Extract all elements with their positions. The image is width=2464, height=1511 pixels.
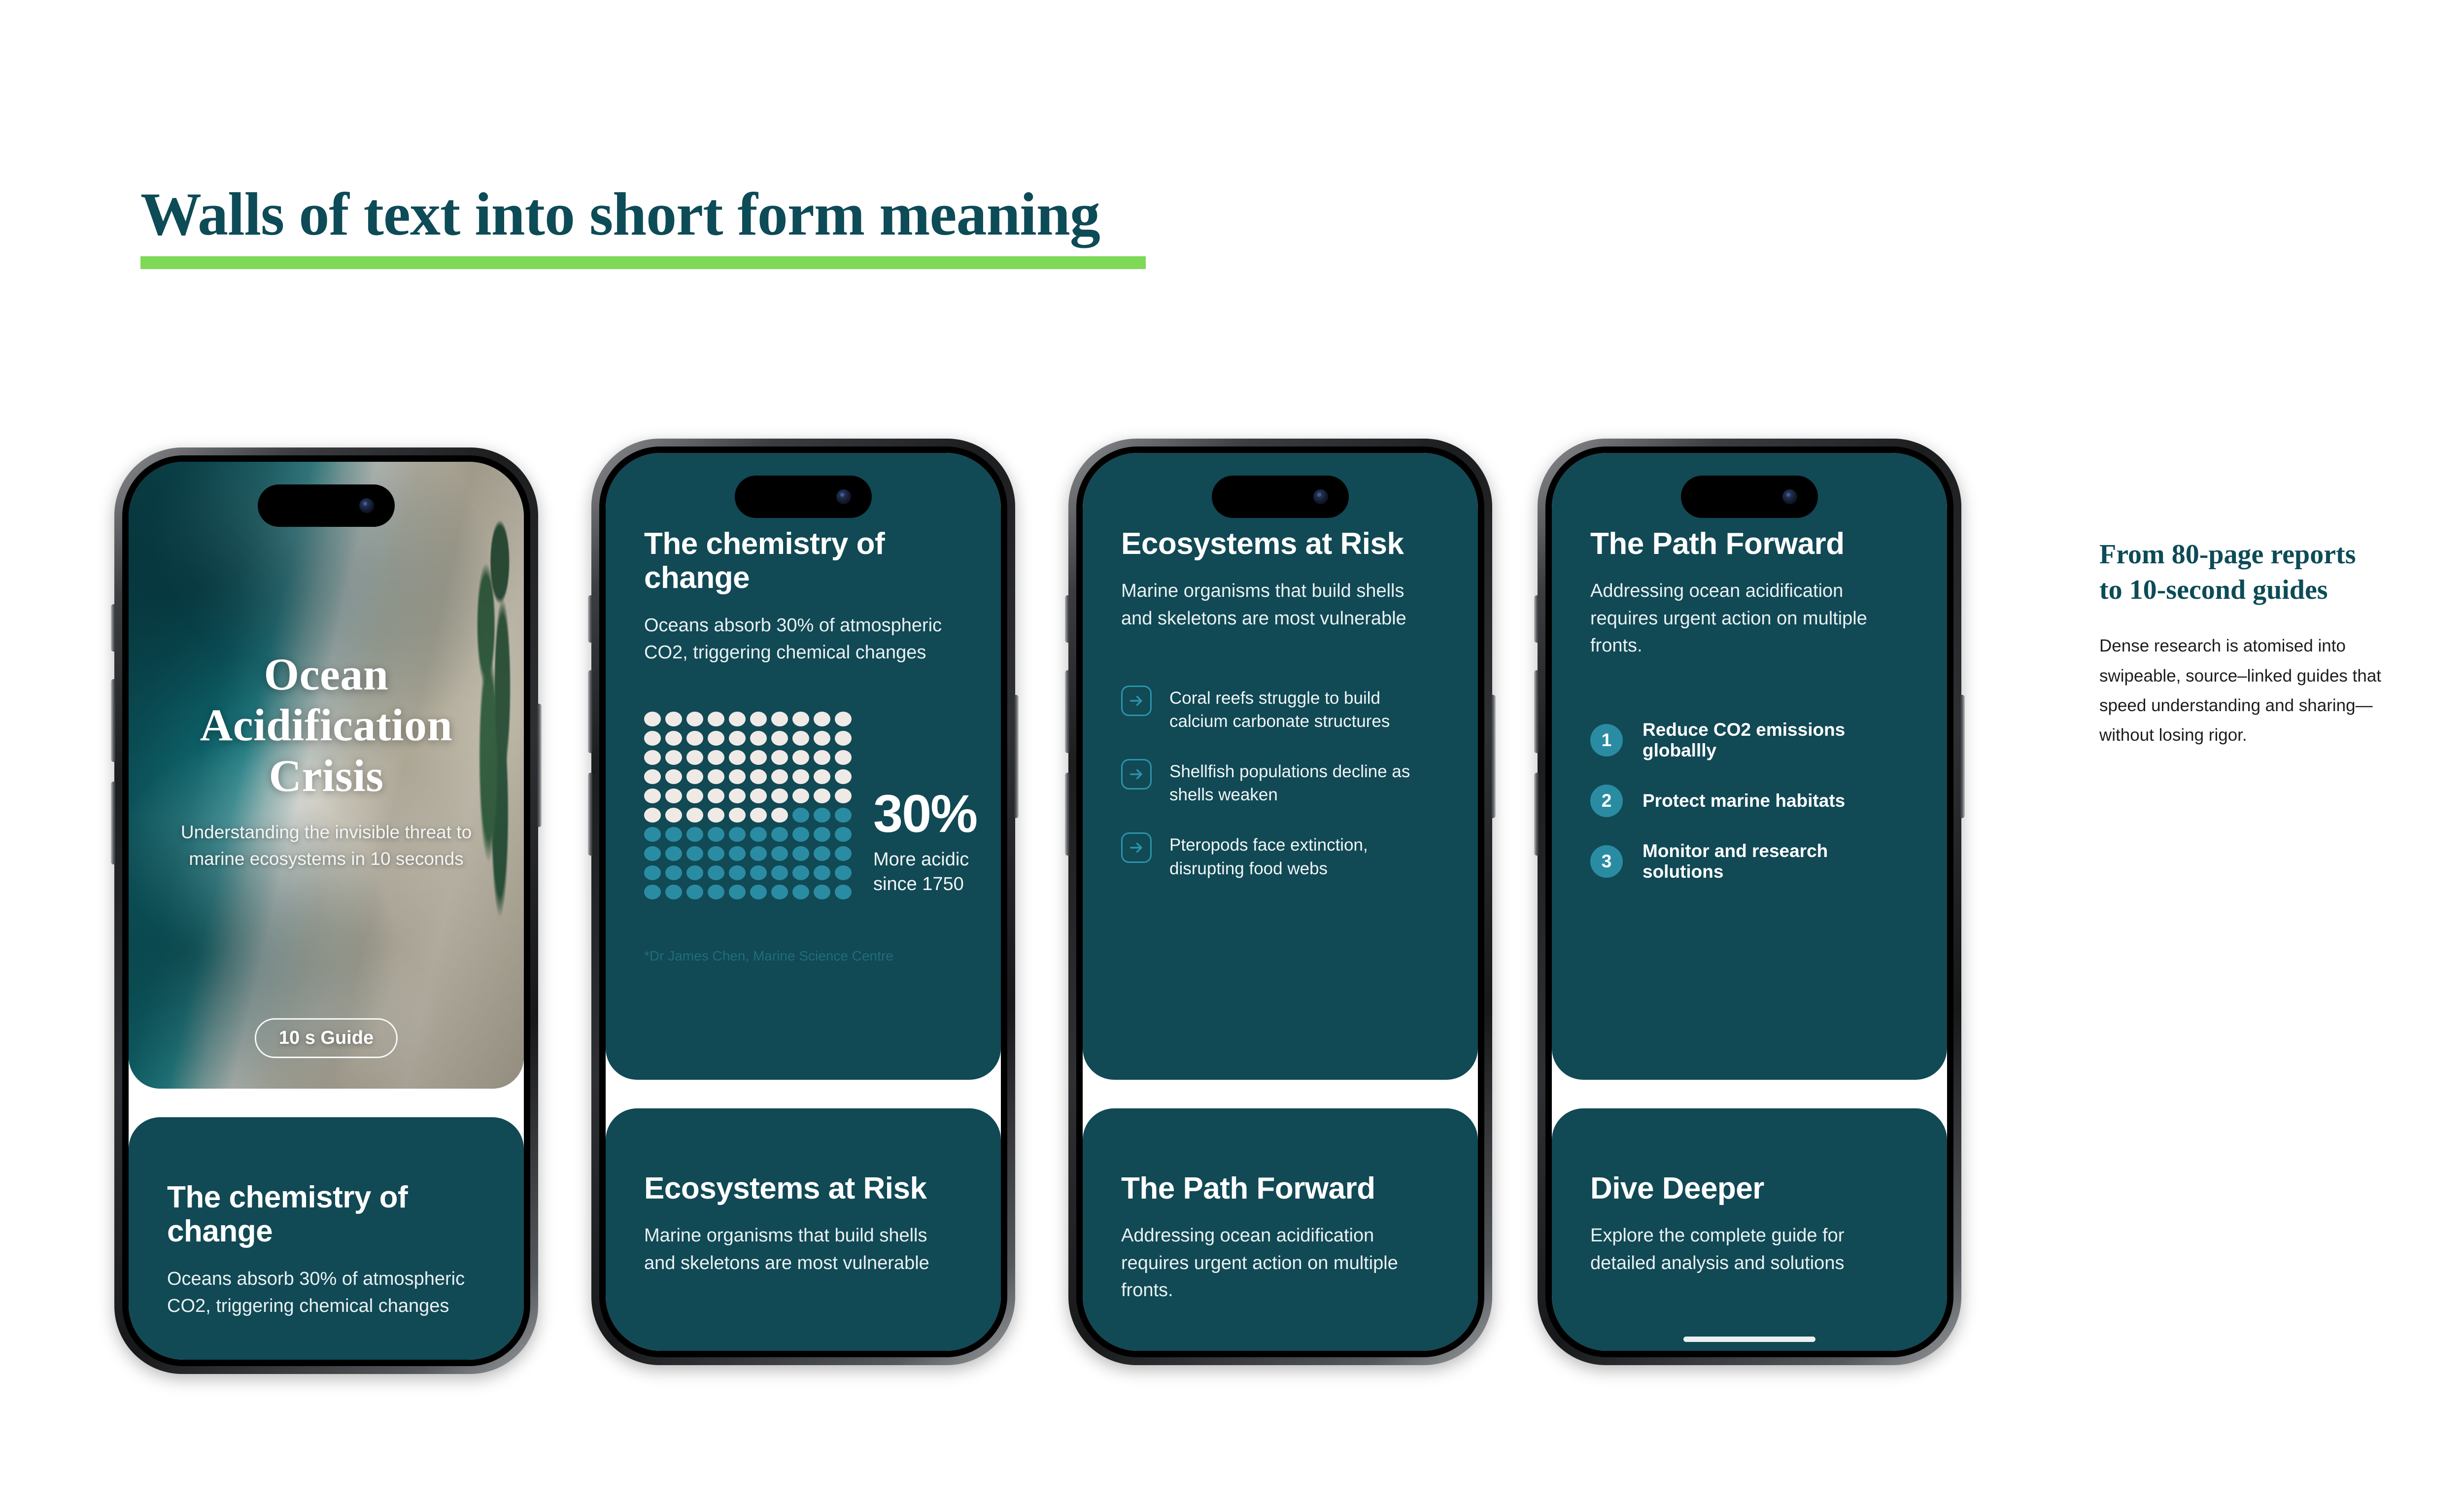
waffle-dot-empty [750, 789, 767, 803]
waffle-dot-empty [708, 731, 724, 746]
phone-screen: Ocean Acidification Crisis Understanding… [129, 462, 524, 1360]
waffle-dot-empty [835, 731, 852, 746]
card-hero[interactable]: Ocean Acidification Crisis Understanding… [129, 462, 524, 1089]
step-label: Protect marine habitats [1643, 790, 1845, 811]
waffle-dot-empty [686, 789, 703, 803]
waffle-dot-filled [835, 808, 852, 823]
side-note-title-line-2: to 10-second guides [2099, 573, 2425, 608]
guide-duration-badge[interactable]: 10 s Guide [255, 1018, 398, 1058]
waffle-dot-filled [792, 846, 809, 861]
hero-media: Ocean Acidification Crisis Understanding… [129, 462, 524, 1089]
waffle-dot-empty [729, 712, 746, 726]
waffle-dot-filled [750, 885, 767, 899]
phone-volume-down-button[interactable] [588, 773, 592, 856]
phone-action-button[interactable] [1065, 595, 1069, 643]
waffle-dot-filled [686, 827, 703, 842]
phone-screen: The chemistry of change Oceans absorb 30… [606, 453, 1001, 1351]
waffle-dot-filled [835, 827, 852, 842]
list-item-label: Shellfish populations decline as shells … [1169, 759, 1439, 807]
waffle-dot-empty [686, 808, 703, 823]
front-camera-icon [1782, 489, 1797, 504]
waffle-dot-empty [771, 731, 788, 746]
waffle-dot-filled [814, 827, 830, 842]
waffle-dot-empty [750, 769, 767, 784]
slide-canvas: Walls of text into short form meaning [0, 0, 2464, 1511]
phone-bezel: The Path Forward Addressing ocean acidif… [1545, 446, 1953, 1357]
waffle-dot-filled [644, 846, 661, 861]
list-item[interactable]: Coral reefs struggle to build calcium ca… [1121, 686, 1439, 733]
stat-number: 30% [873, 787, 977, 840]
waffle-dot-empty [814, 769, 830, 784]
phone-bezel: The chemistry of change Oceans absorb 30… [599, 446, 1007, 1357]
waffle-dot-empty [729, 750, 746, 765]
card-title: The Path Forward [1590, 527, 1909, 561]
waffle-dot-empty [750, 731, 767, 746]
card-title: Ecosystems at Risk [1121, 527, 1439, 561]
waffle-dot-empty [644, 750, 661, 765]
card-peek-subtitle: Explore the complete guide for detailed … [1590, 1222, 1909, 1276]
card-peek-content: Ecosystems at Risk Marine organisms that… [606, 1108, 1001, 1351]
waffle-dot-empty [792, 750, 809, 765]
card-subtitle: Addressing ocean acidification requires … [1590, 578, 1909, 659]
waffle-dot-filled [814, 846, 830, 861]
waffle-dot-filled [686, 885, 703, 899]
phone-screen: Ecosystems at Risk Marine organisms that… [1083, 453, 1478, 1351]
waffle-dot-empty [665, 731, 682, 746]
waffle-dot-empty [644, 731, 661, 746]
waffle-dot-filled [792, 827, 809, 842]
stat-caption-line-1: More acidic [873, 847, 977, 872]
hero-title-line-1: Ocean [163, 649, 489, 700]
phone-screen: The Path Forward Addressing ocean acidif… [1552, 453, 1947, 1351]
card-peek-title: Ecosystems at Risk [644, 1171, 962, 1205]
waffle-dot-filled [835, 865, 852, 880]
hero-title-line-2: Acidification [163, 700, 489, 751]
card-peek-subtitle: Addressing ocean acidification requires … [1121, 1222, 1439, 1304]
front-camera-icon [836, 489, 851, 504]
hero-subtitle: Understanding the invisible threat to ma… [163, 819, 489, 872]
waffle-dot-empty [665, 789, 682, 803]
waffle-dot-empty [708, 712, 724, 726]
phone-action-button[interactable] [588, 595, 592, 643]
waffle-dot-empty [771, 808, 788, 823]
hero-title-line-3: Crisis [163, 751, 489, 801]
phone-volume-up-button[interactable] [588, 670, 592, 753]
dynamic-island [1212, 476, 1349, 518]
phone-power-button[interactable] [537, 704, 542, 827]
list-item[interactable]: 2 Protect marine habitats [1590, 785, 1909, 817]
list-item-label: Pteropods face extinction, disrupting fo… [1169, 832, 1439, 880]
waffle-dot-empty [665, 712, 682, 726]
waffle-dot-filled [686, 846, 703, 861]
waffle-dot-empty [708, 789, 724, 803]
waffle-dot-filled [750, 846, 767, 861]
waffle-dot-filled [729, 846, 746, 861]
card-peek-title: Dive Deeper [1590, 1171, 1909, 1205]
card-subtitle: Marine organisms that build shells and s… [1121, 578, 1439, 632]
waffle-dot-filled [792, 885, 809, 899]
card-title: The chemistry of change [644, 527, 962, 595]
card-chemistry[interactable]: The chemistry of change Oceans absorb 30… [606, 453, 1001, 1080]
phone-action-button[interactable] [1534, 595, 1539, 643]
waffle-dot-filled [771, 846, 788, 861]
phone-volume-down-button[interactable] [111, 782, 115, 864]
waffle-dot-filled [708, 885, 724, 899]
list-item[interactable]: Shellfish populations decline as shells … [1121, 759, 1439, 807]
phone-mockup-chemistry[interactable]: The chemistry of change Oceans absorb 30… [591, 439, 1015, 1365]
waffle-dot-filled [729, 827, 746, 842]
card-path-forward[interactable]: The Path Forward Addressing ocean acidif… [1552, 453, 1947, 1080]
waffle-dot-filled [665, 865, 682, 880]
waffle-dot-empty [835, 712, 852, 726]
side-note-title-line-1: From 80-page reports [2099, 537, 2425, 573]
waffle-dot-empty [729, 808, 746, 823]
waffle-dot-empty [686, 712, 703, 726]
waffle-dot-filled [644, 827, 661, 842]
arrow-right-icon [1121, 759, 1152, 790]
waffle-dot-empty [771, 750, 788, 765]
phone-bezel: Ecosystems at Risk Marine organisms that… [1076, 446, 1484, 1357]
card-peek-title: The chemistry of change [167, 1180, 485, 1249]
waffle-dot-empty [729, 769, 746, 784]
phone-volume-down-button[interactable] [1065, 773, 1069, 856]
waffle-dot-empty [814, 731, 830, 746]
phone-volume-up-button[interactable] [1065, 670, 1069, 753]
card-peek-title: The Path Forward [1121, 1171, 1439, 1205]
waffle-dot-filled [686, 865, 703, 880]
phone-power-button[interactable] [1960, 695, 1965, 818]
waffle-dot-empty [835, 789, 852, 803]
card-peek-next[interactable]: The chemistry of change Oceans absorb 30… [129, 1117, 524, 1360]
waffle-dot-empty [644, 712, 661, 726]
side-note-body: Dense research is atomised into swipeabl… [2099, 631, 2425, 750]
waffle-dot-empty [750, 808, 767, 823]
phone-mockup-ecosystems[interactable]: Ecosystems at Risk Marine organisms that… [1068, 439, 1492, 1365]
card-chemistry-content: The chemistry of change Oceans absorb 30… [606, 453, 1001, 1080]
phone-power-button[interactable] [1491, 695, 1496, 818]
waffle-dot-empty [814, 750, 830, 765]
phone-action-button[interactable] [111, 604, 115, 652]
list-item-label: Coral reefs struggle to build calcium ca… [1169, 686, 1439, 733]
list-item[interactable]: Pteropods face extinction, disrupting fo… [1121, 832, 1439, 880]
waffle-dot-empty [792, 712, 809, 726]
phone-power-button[interactable] [1014, 695, 1019, 818]
list-item[interactable]: 1 Reduce CO2 emissions globallly [1590, 720, 1909, 761]
dynamic-island [258, 484, 395, 527]
phone-mockup-row: Ocean Acidification Crisis Understanding… [0, 0, 2464, 1511]
phone-volume-up-button[interactable] [111, 679, 115, 762]
step-number-badge: 2 [1590, 785, 1623, 817]
card-peek-next[interactable]: The Path Forward Addressing ocean acidif… [1083, 1108, 1478, 1351]
waffle-dot-filled [814, 808, 830, 823]
arrow-right-icon [1121, 686, 1152, 716]
phone-mockup-hero[interactable]: Ocean Acidification Crisis Understanding… [114, 447, 538, 1374]
phone-mockup-path-forward[interactable]: The Path Forward Addressing ocean acidif… [1538, 439, 1961, 1365]
waffle-dot-empty [771, 712, 788, 726]
waffle-dot-filled [750, 827, 767, 842]
waffle-legend: 30% More acidic since 1750 [873, 787, 977, 899]
waffle-dot-filled [835, 885, 852, 899]
waffle-dot-filled [792, 865, 809, 880]
waffle-dot-empty [708, 750, 724, 765]
waffle-dot-empty [814, 789, 830, 803]
list-item[interactable]: 3 Monitor and research solutions [1590, 841, 1909, 882]
card-ecosystems-content: Ecosystems at Risk Marine organisms that… [1083, 453, 1478, 1080]
waffle-dot-empty [771, 769, 788, 784]
waffle-dot-filled [729, 865, 746, 880]
waffle-dot-filled [665, 846, 682, 861]
card-peek-subtitle: Marine organisms that build shells and s… [644, 1222, 962, 1276]
dynamic-island [1681, 476, 1818, 518]
waffle-dot-empty [750, 712, 767, 726]
waffle-dot-filled [708, 865, 724, 880]
waffle-dot-empty [644, 789, 661, 803]
waffle-dot-empty [792, 731, 809, 746]
front-camera-icon [359, 498, 374, 513]
risk-bullet-list: Coral reefs struggle to build calcium ca… [1121, 686, 1439, 881]
card-peek-content: The Path Forward Addressing ocean acidif… [1083, 1108, 1478, 1351]
waffle-dot-empty [835, 750, 852, 765]
action-step-list: 1 Reduce CO2 emissions globallly 2 Prote… [1590, 720, 1909, 882]
waffle-dot-empty [708, 808, 724, 823]
waffle-dot-filled [792, 808, 809, 823]
waffle-dot-filled [771, 865, 788, 880]
waffle-dot-empty [644, 769, 661, 784]
waffle-dot-empty [729, 789, 746, 803]
waffle-dot-filled [814, 865, 830, 880]
waffle-dot-filled [771, 885, 788, 899]
waffle-dot-empty [792, 789, 809, 803]
waffle-dot-filled [665, 885, 682, 899]
waffle-dot-filled [708, 827, 724, 842]
waffle-dot-empty [686, 769, 703, 784]
card-subtitle: Oceans absorb 30% of atmospheric CO2, tr… [644, 612, 962, 666]
waffle-dot-filled [814, 885, 830, 899]
hero-text-block: Ocean Acidification Crisis Understanding… [129, 649, 524, 872]
waffle-dot-filled [665, 827, 682, 842]
waffle-dot-filled [729, 885, 746, 899]
waffle-dot-empty [665, 750, 682, 765]
card-path-forward-content: The Path Forward Addressing ocean acidif… [1552, 453, 1947, 1080]
step-number-badge: 3 [1590, 845, 1623, 878]
home-indicator [1683, 1337, 1815, 1342]
waffle-dot-empty [665, 808, 682, 823]
phone-volume-down-button[interactable] [1534, 773, 1539, 856]
waffle-dot-empty [686, 731, 703, 746]
source-footnote: *Dr James Chen, Marine Science Centre [644, 948, 893, 964]
waffle-dot-filled [750, 865, 767, 880]
waffle-grid [644, 712, 852, 899]
waffle-dot-empty [835, 769, 852, 784]
step-number-badge: 1 [1590, 724, 1623, 756]
card-peek-subtitle: Oceans absorb 30% of atmospheric CO2, tr… [167, 1266, 485, 1320]
card-peek-content: Dive Deeper Explore the complete guide f… [1552, 1108, 1947, 1351]
side-note-title: From 80-page reports to 10-second guides [2099, 537, 2425, 608]
card-peek-next[interactable]: Ecosystems at Risk Marine organisms that… [606, 1108, 1001, 1351]
waffle-dot-filled [835, 846, 852, 861]
waffle-dot-empty [686, 750, 703, 765]
dynamic-island [735, 476, 872, 518]
waffle-dot-filled [771, 827, 788, 842]
front-camera-icon [1313, 489, 1328, 504]
waffle-dot-empty [771, 789, 788, 803]
waffle-dot-empty [665, 769, 682, 784]
card-ecosystems[interactable]: Ecosystems at Risk Marine organisms that… [1083, 453, 1478, 1080]
step-label: Monitor and research solutions [1643, 841, 1909, 882]
waffle-dot-empty [792, 769, 809, 784]
waffle-dot-empty [814, 712, 830, 726]
waffle-chart: 30% More acidic since 1750 [644, 712, 962, 899]
waffle-dot-empty [644, 808, 661, 823]
waffle-dot-filled [644, 885, 661, 899]
stat-caption-line-2: since 1750 [873, 872, 977, 896]
arrow-right-icon [1121, 832, 1152, 863]
phone-bezel: Ocean Acidification Crisis Understanding… [122, 455, 530, 1366]
waffle-dot-filled [644, 865, 661, 880]
card-peek-content: The chemistry of change Oceans absorb 30… [129, 1117, 524, 1360]
phone-volume-up-button[interactable] [1534, 670, 1539, 753]
waffle-dot-empty [729, 731, 746, 746]
waffle-dot-empty [750, 750, 767, 765]
side-note-block: From 80-page reports to 10-second guides… [2099, 537, 2425, 750]
card-peek-next[interactable]: Dive Deeper Explore the complete guide f… [1552, 1108, 1947, 1351]
step-label: Reduce CO2 emissions globallly [1643, 720, 1909, 761]
waffle-dot-empty [708, 769, 724, 784]
waffle-dot-filled [708, 846, 724, 861]
